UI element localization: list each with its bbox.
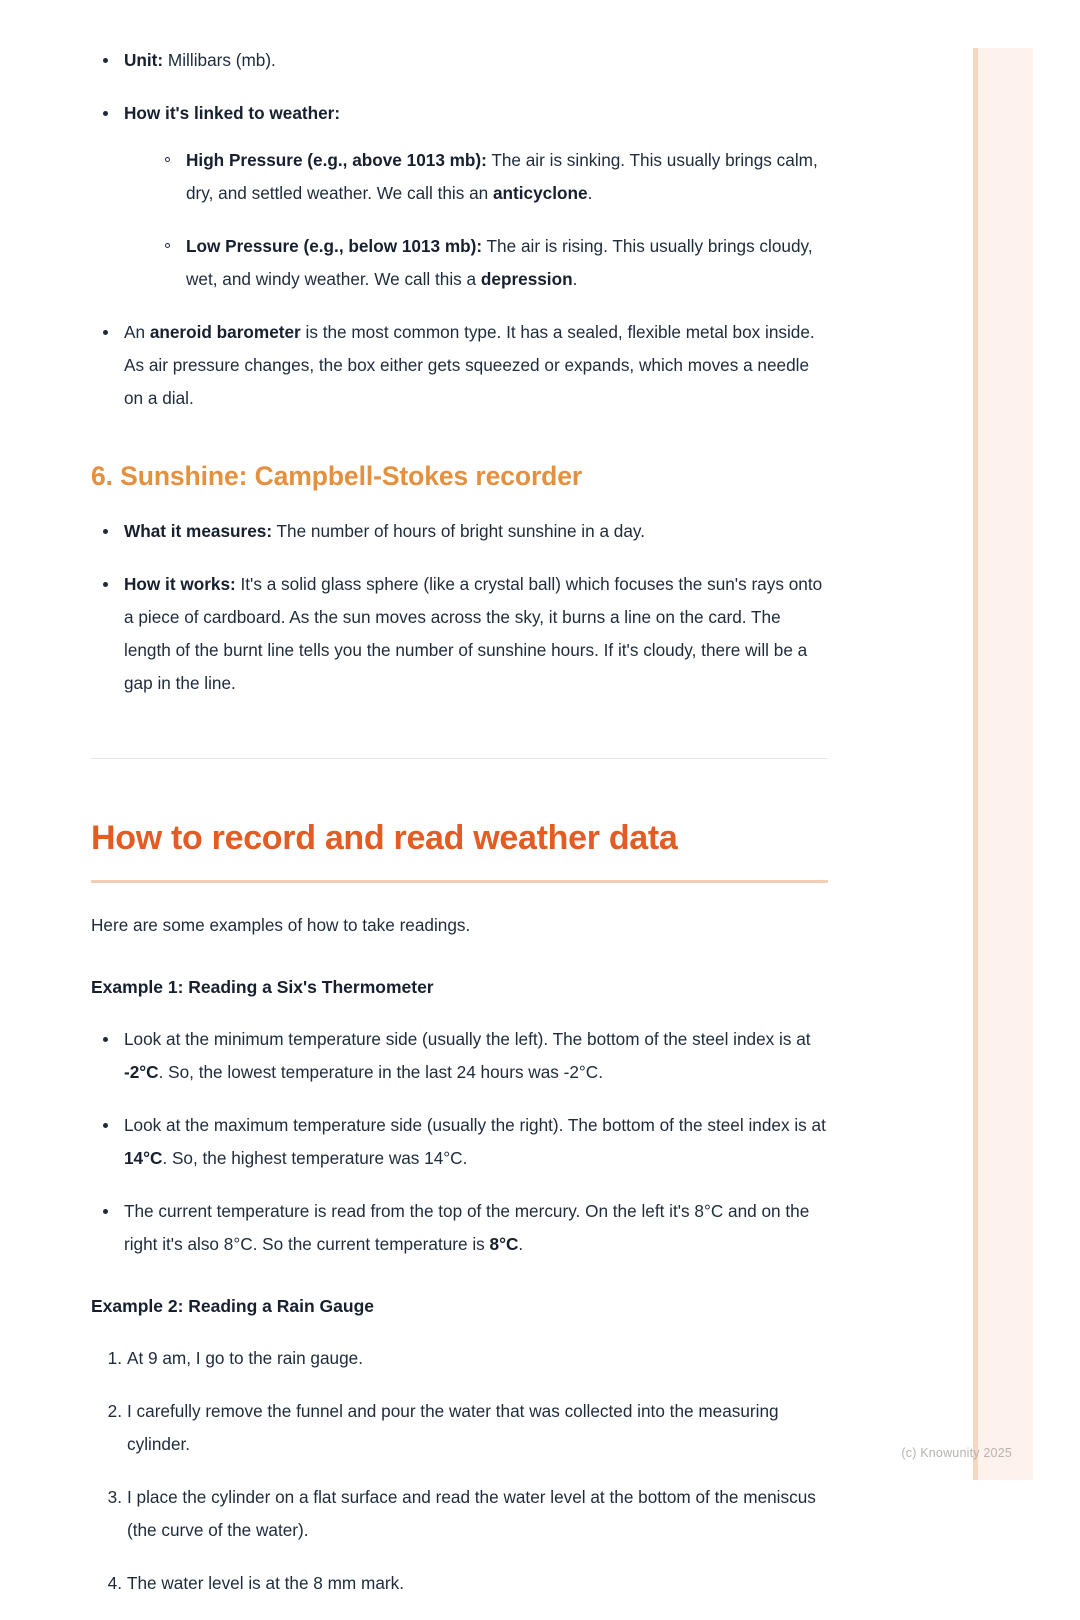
bullet-dot-icon [103,1037,108,1042]
pressure-sub-list-wrap: High Pressure (e.g., above 1013 mb): The… [155,144,828,296]
current-temp-text-end: . [518,1234,523,1254]
list-item-max-temp: Look at the maximum temperature side (us… [91,1109,828,1175]
max-temp-text-end: . So, the highest temperature was 14°C. [162,1148,467,1168]
example-1-heading: Example 1: Reading a Six's Thermometer [91,973,828,1001]
bullet-dot-icon [103,1123,108,1128]
high-pressure-emphasis: anticyclone [493,183,588,203]
bullet-dot-icon [103,330,108,335]
section-divider [91,758,828,759]
list-item-aneroid-barometer: An aneroid barometer is the most common … [91,316,828,415]
list-item-current-temp: The current temperature is read from the… [91,1195,828,1261]
list-item-linked-to-weather: How it's linked to weather: High Pressur… [91,97,828,296]
what-it-measures-label: What it measures: [124,521,272,541]
min-temp-text-start: Look at the minimum temperature side (us… [124,1029,811,1049]
bullet-dot-icon [103,58,108,63]
low-pressure-label: Low Pressure (e.g., below 1013 mb): [186,236,482,256]
aneroid-text-start: An [124,322,150,342]
aneroid-emphasis: aneroid barometer [150,322,301,342]
list-item-how-it-works: How it works: It's a solid glass sphere … [91,568,828,700]
bullet-dot-icon [103,529,108,534]
current-temp-value: 8°C [490,1234,519,1254]
example-2-heading: Example 2: Reading a Rain Gauge [91,1292,828,1320]
list-item-step-4: 4. The water level is at the 8 mm mark. [91,1567,828,1600]
low-pressure-emphasis: depression [481,269,573,289]
document-content: Unit: Millibars (mb). How it's linked to… [91,0,828,1600]
what-it-measures-text: The number of hours of bright sunshine i… [272,521,645,541]
intro-paragraph: Here are some examples of how to take re… [91,909,828,942]
linked-label: How it's linked to weather: [124,103,340,123]
list-item-step-1: 1. At 9 am, I go to the rain gauge. [91,1342,828,1375]
min-temp-text-end: . So, the lowest temperature in the last… [159,1062,603,1082]
list-item-unit: Unit: Millibars (mb). [91,44,828,77]
high-pressure-label: High Pressure (e.g., above 1013 mb): [186,150,487,170]
step-number-3: 3. [98,1481,122,1514]
high-pressure-text-end: . [588,183,593,203]
step-number-2: 2. [98,1395,122,1428]
bullet-ring-icon [165,157,170,162]
how-it-works-label: How it works: [124,574,236,594]
step-2-text: I carefully remove the funnel and pour t… [127,1401,779,1454]
unit-label: Unit: [124,50,163,70]
copyright-watermark: (c) Knowunity 2025 [901,1446,1012,1460]
list-item-min-temp: Look at the minimum temperature side (us… [91,1023,828,1089]
example-2-step-list: 1. At 9 am, I go to the rain gauge. 2. I… [91,1342,828,1600]
page-side-panel [978,48,1033,1480]
list-item-step-2: 2. I carefully remove the funnel and pou… [91,1395,828,1461]
list-item-step-3: 3. I place the cylinder on a flat surfac… [91,1481,828,1547]
bullet-dot-icon [103,1209,108,1214]
page-title-rule [91,880,828,883]
step-1-text: At 9 am, I go to the rain gauge. [127,1348,363,1368]
current-temp-text-start: The current temperature is read from the… [124,1201,809,1254]
list-item-low-pressure: Low Pressure (e.g., below 1013 mb): The … [155,230,828,296]
step-3-text: I place the cylinder on a flat surface a… [127,1487,816,1540]
list-item-high-pressure: High Pressure (e.g., above 1013 mb): The… [155,144,828,210]
max-temp-value: 14°C [124,1148,162,1168]
step-4-text: The water level is at the 8 mm mark. [127,1573,404,1593]
list-item-what-it-measures: What it measures: The number of hours of… [91,515,828,548]
bullet-dot-icon [103,111,108,116]
step-number-1: 1. [98,1342,122,1375]
example-1-bullet-list: Look at the minimum temperature side (us… [91,1023,828,1261]
bullet-ring-icon [165,243,170,248]
unit-text: Millibars (mb). [163,50,276,70]
pressure-sub-bullet-list: High Pressure (e.g., above 1013 mb): The… [155,144,828,296]
bullet-dot-icon [103,582,108,587]
step-number-4: 4. [98,1567,122,1600]
min-temp-value: -2°C [124,1062,159,1082]
max-temp-text-start: Look at the maximum temperature side (us… [124,1115,826,1135]
sunshine-section-heading: 6. Sunshine: Campbell-Stokes recorder [91,459,828,493]
page-title: How to record and read weather data [91,817,828,859]
sunshine-bullet-list: What it measures: The number of hours of… [91,515,828,700]
document-page: Unit: Millibars (mb). How it's linked to… [0,0,920,1620]
low-pressure-text-end: . [573,269,578,289]
pressure-bullet-list: Unit: Millibars (mb). How it's linked to… [91,44,828,415]
